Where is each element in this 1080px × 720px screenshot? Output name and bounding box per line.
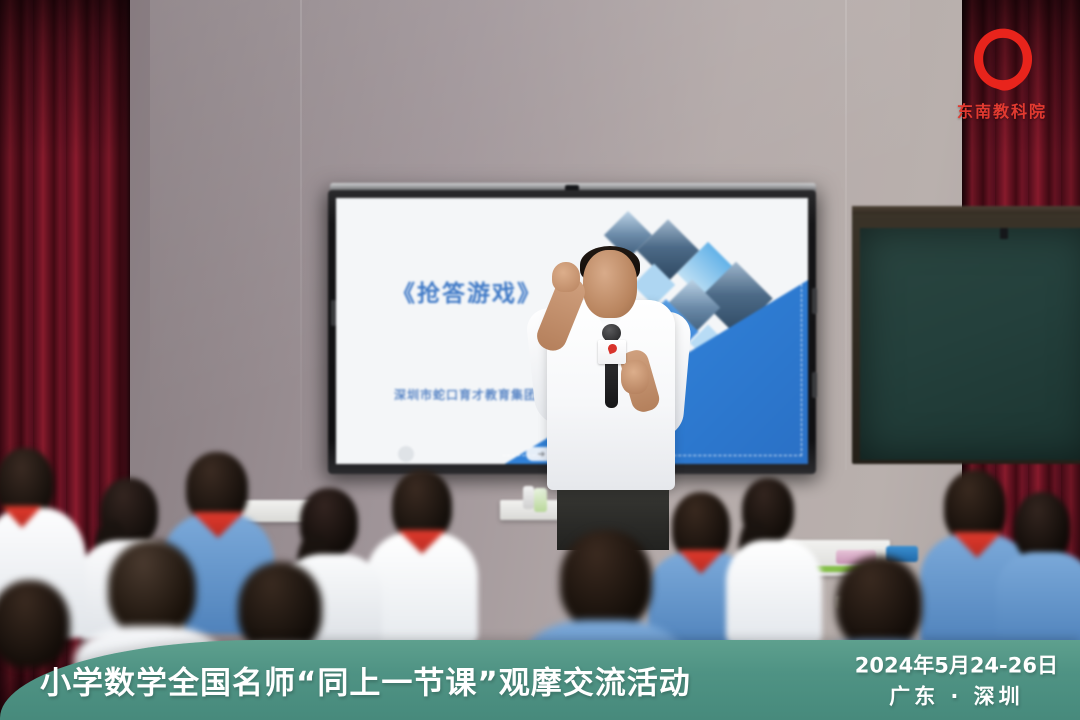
wall-seam bbox=[300, 0, 302, 470]
water-bottle bbox=[534, 488, 547, 512]
event-banner: 小学数学全国名师“同上一节课”观摩交流活动 2024年5月24-26日 广东 ·… bbox=[0, 640, 1080, 720]
cursor-icon[interactable]: ➔ bbox=[538, 450, 546, 459]
panel-side-button[interactable] bbox=[812, 372, 817, 398]
teacher-head bbox=[583, 250, 637, 318]
photo-canvas: 东南教科院 bbox=[0, 0, 1080, 720]
teacher-left-hand bbox=[552, 262, 580, 292]
student-head bbox=[560, 530, 652, 630]
logo-text: 东南教科院 bbox=[942, 98, 1062, 122]
classroom-blackboard bbox=[860, 228, 1080, 460]
red-crescent-circle-logo bbox=[970, 26, 1036, 92]
student-head bbox=[836, 556, 922, 650]
wall-seam bbox=[845, 0, 847, 470]
slide-corner-mark bbox=[398, 446, 414, 462]
blackboard-clip bbox=[1000, 228, 1008, 239]
teacher-right-hand bbox=[621, 360, 649, 394]
student-head bbox=[0, 580, 70, 668]
organization-logo: 东南教科院 bbox=[942, 26, 1062, 146]
cup bbox=[523, 486, 534, 509]
event-location: 广东 · 深圳 bbox=[855, 681, 1058, 711]
student-head bbox=[108, 540, 196, 636]
event-meta: 2024年5月24-26日 广东 · 深圳 bbox=[855, 650, 1058, 711]
event-date: 2024年5月24-26日 bbox=[855, 650, 1058, 680]
event-title: 小学数学全国名师“同上一节课”观摩交流活动 bbox=[40, 658, 691, 703]
panel-side-button[interactable] bbox=[812, 288, 817, 314]
student-uniform bbox=[726, 540, 822, 644]
student-uniform bbox=[996, 552, 1080, 648]
